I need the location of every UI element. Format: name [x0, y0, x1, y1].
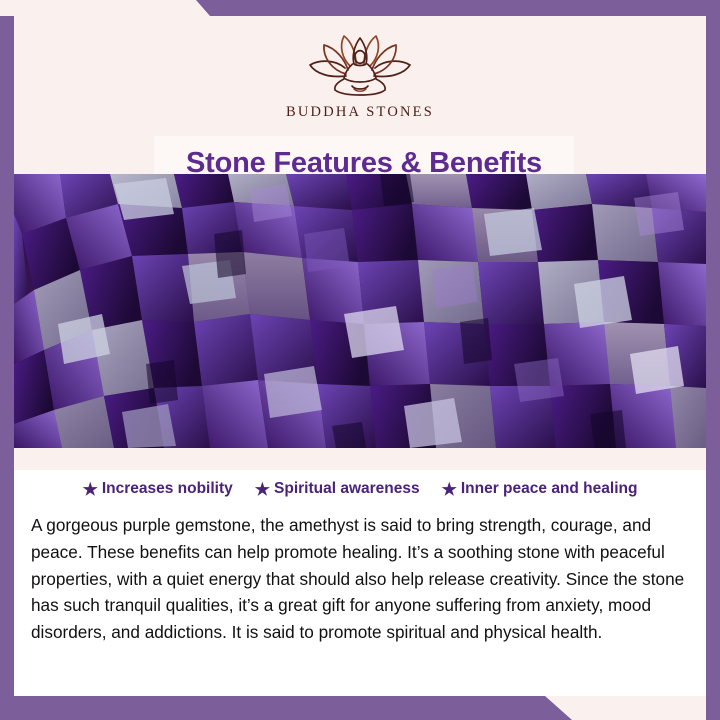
benefit-item-2: ★ Spiritual awareness — [255, 480, 420, 498]
card-content: BUDDHA STONES Stone Features & Benefits — [14, 16, 706, 696]
frame-top-band — [0, 0, 720, 16]
benefits-list: ★ Increases nobility ★ Spiritual awarene… — [14, 480, 706, 498]
star-icon: ★ — [83, 481, 98, 498]
benefit-item-3: ★ Inner peace and healing — [442, 480, 638, 498]
benefit-label: Spiritual awareness — [274, 480, 420, 498]
star-icon: ★ — [255, 481, 270, 498]
frame-bottom-band — [0, 696, 720, 720]
stone-feature-card: BUDDHA STONES Stone Features & Benefits — [0, 0, 720, 720]
tint-strip — [14, 448, 706, 470]
frame-left-band — [0, 16, 14, 720]
benefit-label: Increases nobility — [102, 480, 233, 498]
frame-right-band — [706, 0, 720, 720]
star-icon: ★ — [442, 481, 457, 498]
benefit-label: Inner peace and healing — [461, 480, 638, 498]
stone-description-text: A gorgeous purple gemstone, the amethyst… — [31, 512, 691, 646]
brand-name: BUDDHA STONES — [286, 104, 434, 121]
benefit-item-1: ★ Increases nobility — [83, 480, 233, 498]
amethyst-crystal-texture — [14, 174, 706, 448]
brand-logo: BUDDHA STONES — [14, 32, 706, 121]
amethyst-photo: Amethyst — [14, 174, 706, 448]
stone-description-block: ★ Increases nobility ★ Spiritual awarene… — [14, 448, 706, 696]
card-header: BUDDHA STONES Stone Features & Benefits — [14, 16, 706, 174]
lotus-meditation-figure-icon — [304, 32, 416, 100]
